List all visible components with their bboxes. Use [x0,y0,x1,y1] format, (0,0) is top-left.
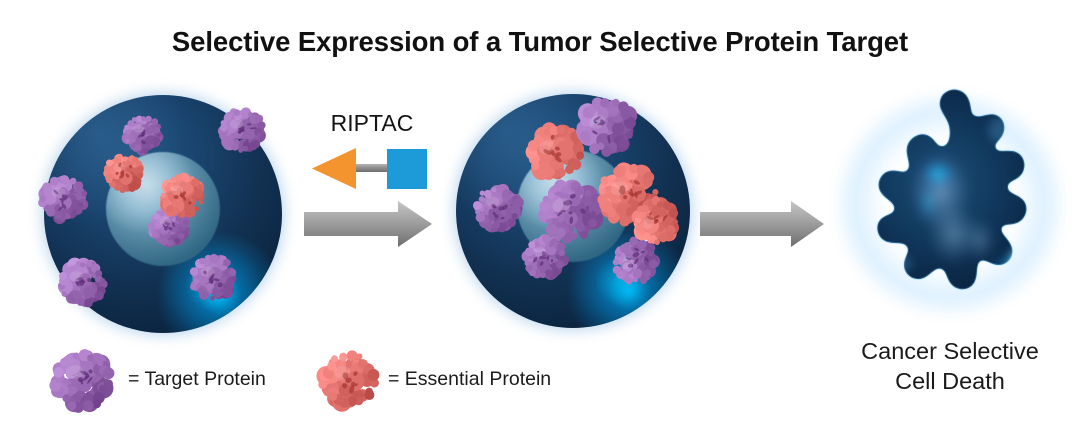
target-protein [519,232,571,282]
legend-label-essential-protein: = Essential Protein [388,368,551,391]
riptac-warhead-triangle [312,148,356,189]
target-protein [36,171,92,225]
target-protein [54,255,110,309]
riptac-label: RIPTAC [312,110,432,137]
target-protein [185,250,241,304]
figure-canvas: Selective Expression of a Tumor Selectiv… [0,0,1080,440]
ternary-complex-cell-diagram [456,94,690,328]
process-arrow-1 [302,200,434,248]
ternary-complex [602,214,690,269]
process-arrow-2 [698,200,826,248]
riptac-linker [351,164,393,172]
dead-cell-caption: Cancer Selective Cell Death [820,336,1080,396]
legend-item-essential-protein: = Essential Protein [316,346,551,412]
figure-title: Selective Expression of a Tumor Selectiv… [0,26,1080,58]
tumor-cell-diagram [44,95,282,333]
caption-line-2: Cell Death [820,366,1080,396]
riptac-molecule [308,143,438,195]
target-protein [215,103,269,155]
legend-label-target-protein: = Target Protein [128,368,266,391]
target-protein [469,180,527,234]
legend-item-target-protein: = Target Protein [44,344,266,414]
essential-protein [101,149,146,196]
legend-swatch-essential-protein [316,346,382,412]
ternary-complex [526,104,636,174]
apoptotic-cell-diagram [828,84,1072,330]
essential-protein [157,170,207,220]
legend-swatch-target-protein [44,344,120,414]
riptac-binder-square [387,149,427,189]
caption-line-1: Cancer Selective [820,336,1080,366]
